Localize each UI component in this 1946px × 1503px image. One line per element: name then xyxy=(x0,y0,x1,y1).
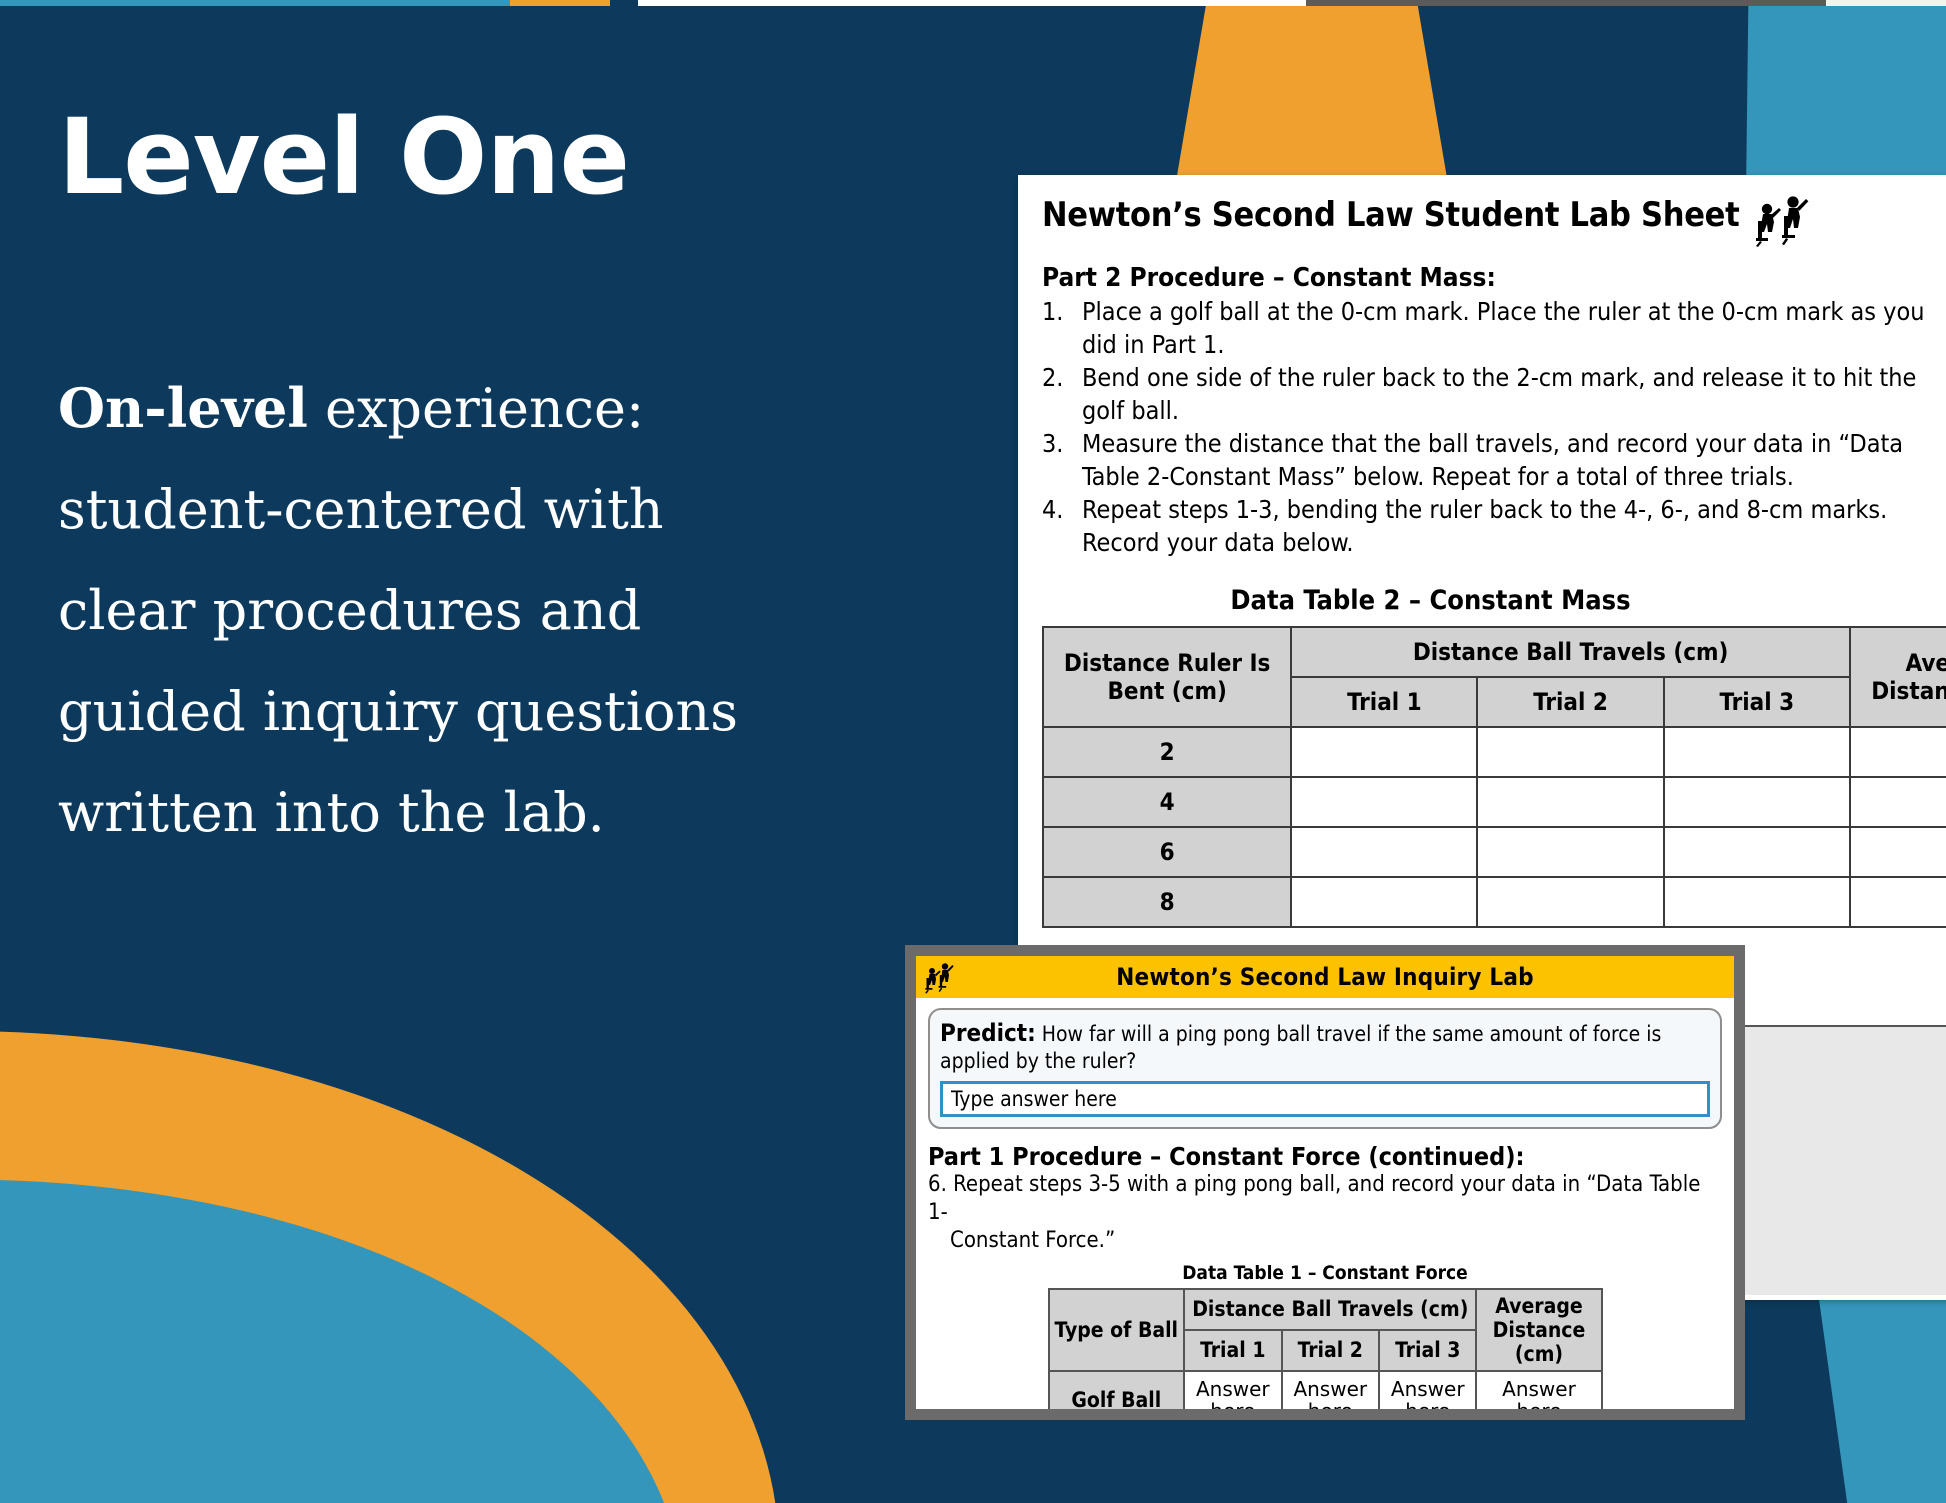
body-copy-rest: experience: student-centered with clear … xyxy=(58,377,738,844)
row-label-golf-ball: Golf Ball xyxy=(1049,1371,1185,1420)
inquiry-lab-window[interactable]: Newton’s Second Law Inquiry Lab Predict:… xyxy=(905,945,1745,1420)
previous-slide-edge-sliver xyxy=(0,0,1946,6)
step-text: Place a golf ball at the 0-cm mark. Plac… xyxy=(1082,295,1939,361)
col-trial-2: Trial 2 xyxy=(1282,1330,1379,1371)
cell-average[interactable] xyxy=(1850,727,1946,777)
table-row: 6 xyxy=(1043,827,1946,877)
predict-answer-input[interactable] xyxy=(940,1081,1710,1117)
sliver-navy-segment xyxy=(610,0,638,6)
col-group-distance-ball-travels: Distance Ball Travels (cm) xyxy=(1184,1289,1476,1330)
cell-golf-trial-1[interactable]: Answer here xyxy=(1184,1371,1281,1420)
cell-trial-3[interactable] xyxy=(1664,877,1850,927)
row-label: 2 xyxy=(1043,727,1291,777)
part1-step-text: Repeat steps 3-5 with a ping pong ball, … xyxy=(928,1172,1700,1225)
presentation-slide: Level One On-level experience: student-c… xyxy=(0,0,1946,1503)
col-trial-3: Trial 3 xyxy=(1379,1330,1476,1371)
inquiry-lab-title: Newton’s Second Law Inquiry Lab xyxy=(954,963,1696,991)
col-average-distance: Average Distance (cm) xyxy=(1850,627,1946,727)
col-type-of-ball: Type of Ball xyxy=(1049,1289,1185,1371)
two-students-on-chairs-icon xyxy=(1749,191,1815,247)
step-number: 4. xyxy=(1042,493,1070,559)
lab-sheet-table-title: Data Table 2 – Constant Mass xyxy=(1042,585,1819,616)
sliver-grey-segment xyxy=(1306,0,1826,6)
cell-trial-3[interactable] xyxy=(1664,727,1850,777)
lab-sheet-step: 3. Measure the distance that the ball tr… xyxy=(1042,427,1939,493)
step-number: 3. xyxy=(1042,427,1070,493)
part1-step-number: 6. xyxy=(928,1172,947,1197)
data-table-2: Distance Ruler Is Bent (cm) Distance Bal… xyxy=(1042,626,1946,928)
cell-trial-2[interactable] xyxy=(1477,827,1663,877)
cell-average[interactable] xyxy=(1850,877,1946,927)
cell-average[interactable] xyxy=(1850,827,1946,877)
cell-trial-3[interactable] xyxy=(1664,777,1850,827)
table-row: 2 xyxy=(1043,727,1946,777)
col-group-distance-ball-travels: Distance Ball Travels (cm) xyxy=(1291,627,1850,677)
cell-trial-1[interactable] xyxy=(1291,777,1477,827)
data-table-1-title: Data Table 1 – Constant Force xyxy=(928,1262,1722,1284)
table-row: Golf Ball Answer here Answer here Answer… xyxy=(1049,1371,1602,1420)
lab-sheet-step: 2. Bend one side of the ruler back to th… xyxy=(1042,361,1939,427)
data-table-1: Type of Ball Distance Ball Travels (cm) … xyxy=(1048,1288,1603,1420)
cell-golf-trial-2[interactable]: Answer here xyxy=(1282,1371,1379,1420)
predict-question-text: How far will a ping pong ball travel if … xyxy=(940,1022,1661,1073)
col-trial-3: Trial 3 xyxy=(1664,677,1850,727)
step-text: Bend one side of the ruler back to the 2… xyxy=(1082,361,1939,427)
cell-golf-trial-3[interactable]: Answer here xyxy=(1379,1371,1476,1420)
row-label: 8 xyxy=(1043,877,1291,927)
row-label: 6 xyxy=(1043,827,1291,877)
lab-sheet-steps-list: 1. Place a golf ball at the 0-cm mark. P… xyxy=(1042,295,1939,559)
predict-label: Predict: xyxy=(940,1019,1036,1047)
step-number: 1. xyxy=(1042,295,1070,361)
sliver-white-segment-2 xyxy=(1826,0,1946,6)
table-header-row: Type of Ball Distance Ball Travels (cm) … xyxy=(1049,1289,1602,1330)
lab-sheet-step: 4. Repeat steps 1-3, bending the ruler b… xyxy=(1042,493,1939,559)
part1-step-text-continued: Constant Force.” xyxy=(928,1227,1722,1255)
body-copy-lead: On-level xyxy=(58,376,308,440)
lab-sheet-section-heading: Part 2 Procedure – Constant Mass: xyxy=(1042,263,1939,293)
lab-sheet-header: Newton’s Second Law Student Lab Sheet xyxy=(1042,195,1939,247)
cell-trial-1[interactable] xyxy=(1291,877,1477,927)
part1-heading: Part 1 Procedure – Constant Force (conti… xyxy=(928,1142,1722,1171)
lab-sheet-step: 1. Place a golf ball at the 0-cm mark. P… xyxy=(1042,295,1939,361)
row-label: 4 xyxy=(1043,777,1291,827)
col-distance-ruler-bent: Distance Ruler Is Bent (cm) xyxy=(1043,627,1291,727)
sliver-teal-segment xyxy=(0,0,510,6)
col-trial-1: Trial 1 xyxy=(1291,677,1477,727)
cell-trial-2[interactable] xyxy=(1477,777,1663,827)
lab-sheet-title: Newton’s Second Law Student Lab Sheet xyxy=(1042,195,1739,235)
step-text: Repeat steps 1-3, bending the ruler back… xyxy=(1082,493,1939,559)
table-header-row: Distance Ruler Is Bent (cm) Distance Bal… xyxy=(1043,627,1946,677)
two-students-on-chairs-icon xyxy=(924,960,954,994)
table-row: 8 xyxy=(1043,877,1946,927)
predict-panel: Predict: How far will a ping pong ball t… xyxy=(928,1008,1722,1129)
inquiry-lab-titlebar: Newton’s Second Law Inquiry Lab xyxy=(916,956,1734,998)
cell-trial-3[interactable] xyxy=(1664,827,1850,877)
col-trial-2: Trial 2 xyxy=(1477,677,1663,727)
cell-trial-2[interactable] xyxy=(1477,727,1663,777)
col-average-distance: Average Distance (cm) xyxy=(1476,1289,1601,1371)
cell-trial-2[interactable] xyxy=(1477,877,1663,927)
cell-trial-1[interactable] xyxy=(1291,827,1477,877)
inquiry-lab-body: Predict: How far will a ping pong ball t… xyxy=(916,998,1734,1420)
cell-average[interactable] xyxy=(1850,777,1946,827)
sliver-white-segment xyxy=(638,0,1306,6)
step-text: Measure the distance that the ball trave… xyxy=(1082,427,1939,493)
col-trial-1: Trial 1 xyxy=(1184,1330,1281,1371)
cell-golf-average[interactable]: Answer here xyxy=(1476,1371,1601,1420)
table-row: 4 xyxy=(1043,777,1946,827)
part1-step: 6. Repeat steps 3-5 with a ping pong bal… xyxy=(928,1171,1722,1255)
slide-text-column: Level One On-level experience: student-c… xyxy=(58,104,798,864)
step-number: 2. xyxy=(1042,361,1070,427)
cell-trial-1[interactable] xyxy=(1291,727,1477,777)
predict-question: Predict: How far will a ping pong ball t… xyxy=(940,1018,1710,1075)
slide-body-copy: On-level experience: student-centered wi… xyxy=(58,358,798,864)
page-title: Level One xyxy=(58,104,798,210)
sliver-orange-segment xyxy=(510,0,610,6)
